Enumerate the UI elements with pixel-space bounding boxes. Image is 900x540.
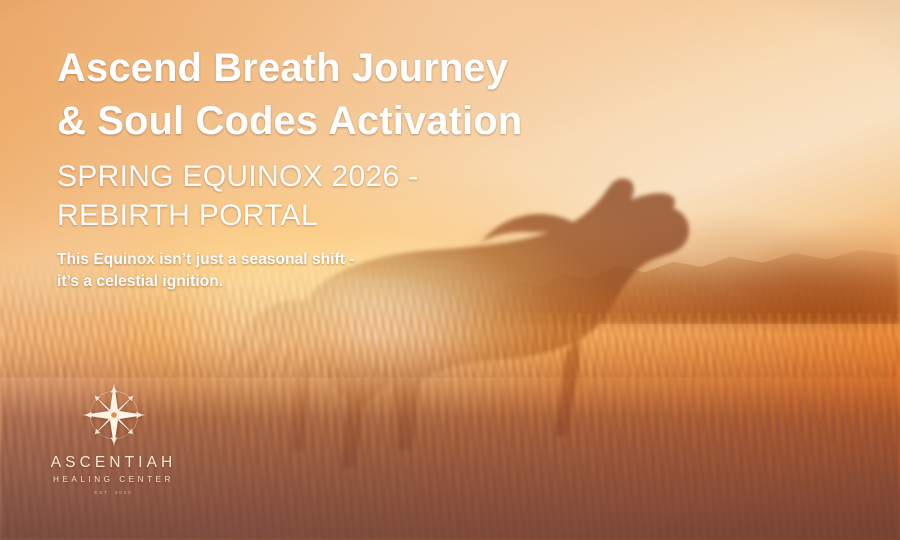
page-title: Ascend Breath Journey & Soul Codes Activ… bbox=[57, 42, 617, 148]
compass-star-icon bbox=[81, 382, 147, 448]
headline-line-2: & Soul Codes Activation bbox=[57, 95, 617, 148]
tagline-line-1: This Equinox isn’t just a seasonal shift… bbox=[57, 249, 617, 271]
poster-copy-block: Ascend Breath Journey & Soul Codes Activ… bbox=[57, 42, 617, 293]
subtitle-line-1: SPRING EQUINOX 2026 - bbox=[57, 157, 617, 196]
brand-tagline: HEALING CENTER bbox=[46, 476, 181, 484]
brand-name: ASCENTIAH bbox=[46, 455, 181, 471]
tagline-line-2: it’s a celestial ignition. bbox=[57, 271, 617, 293]
event-subtitle: SPRING EQUINOX 2026 - REBIRTH PORTAL bbox=[57, 157, 617, 235]
subtitle-line-2: REBIRTH PORTAL bbox=[57, 196, 617, 235]
event-tagline: This Equinox isn’t just a seasonal shift… bbox=[57, 249, 617, 293]
brand-established: EST. 2020 bbox=[46, 491, 181, 496]
headline-line-1: Ascend Breath Journey bbox=[57, 42, 617, 95]
brand-logo-lockup: ASCENTIAH HEALING CENTER EST. 2020 bbox=[46, 382, 181, 496]
event-poster: Ascend Breath Journey & Soul Codes Activ… bbox=[0, 0, 900, 540]
